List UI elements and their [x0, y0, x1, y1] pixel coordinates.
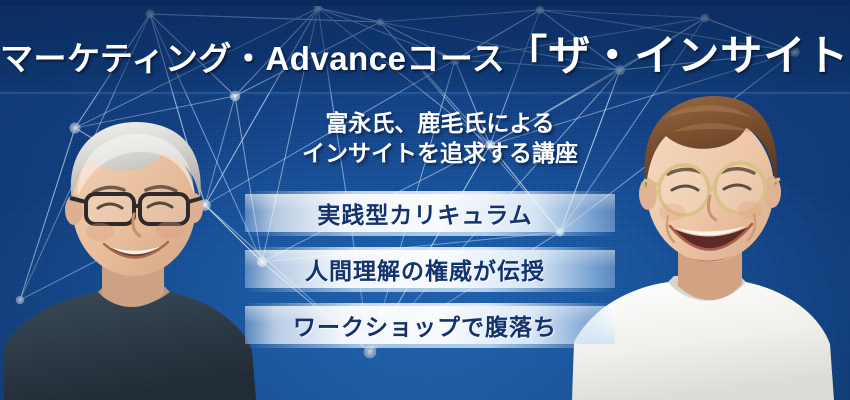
banner-subtitle: 富永氏、鹿毛氏による インサイトを追求する講座 — [250, 108, 630, 168]
feature-badge-authority: 人間理解の権威が伝授 — [0, 250, 850, 288]
headline-accent-text: 「ザ・インサイト」 — [505, 32, 850, 79]
feature-badge-label: 人間理解の権威が伝授 — [305, 252, 545, 286]
feature-badge-curriculum: 実践型カリキュラム — [0, 194, 850, 232]
feature-badge-label: 実践型カリキュラム — [317, 196, 532, 230]
feature-badge-workshop: ワークショップで腹落ち — [0, 306, 850, 344]
subtitle-line-2: インサイトを追求する講座 — [250, 138, 630, 168]
feature-badge-list: 実践型カリキュラム 人間理解の権威が伝授 ワークショップで腹落ち — [0, 194, 850, 362]
headline-main-text: マーケティング・Advanceコース — [0, 40, 505, 77]
course-banner: マーケティング・Advanceコース「ザ・インサイト」 富永氏、鹿毛氏による イ… — [0, 0, 850, 400]
feature-badge-label: ワークショップで腹落ち — [293, 308, 557, 342]
banner-headline: マーケティング・Advanceコース「ザ・インサイト」 — [0, 22, 850, 83]
subtitle-line-1: 富永氏、鹿毛氏による — [250, 108, 630, 138]
